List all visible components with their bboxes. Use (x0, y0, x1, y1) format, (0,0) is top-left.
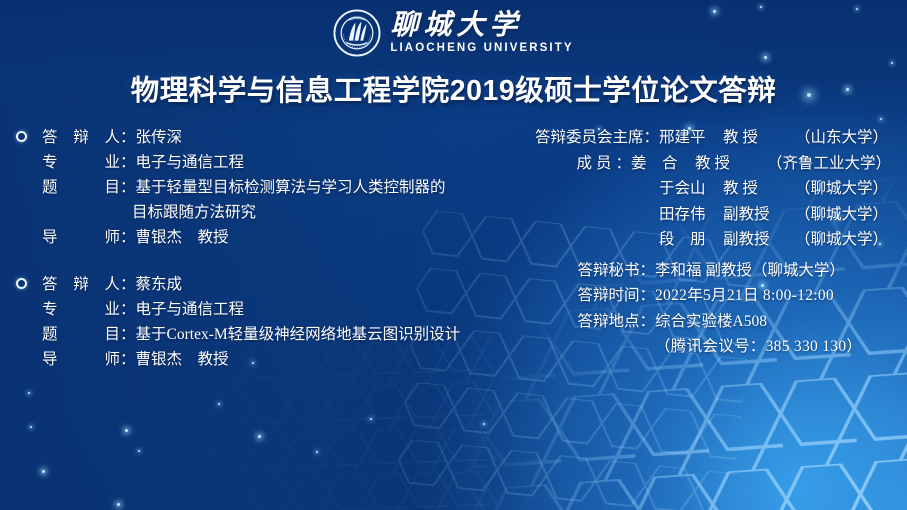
member-rank: 副教授 (723, 227, 795, 253)
member-name: 于会山 (659, 176, 723, 202)
member-org: （山东大学） (795, 125, 888, 151)
secretary-label: 答辩秘书： (577, 258, 655, 284)
advisor-label: 导师 (42, 225, 120, 250)
member-org: （齐鲁工业大学） (767, 151, 891, 177)
member-org: （聊城大学） (795, 227, 888, 253)
glow-dot (258, 435, 261, 438)
topic-row-continued: 目标跟随方法研究 (12, 200, 482, 225)
major-row: 专业 ： 电子与通信工程 (12, 150, 482, 175)
time-label: 答辩时间： (577, 283, 655, 309)
glow-dot (316, 451, 318, 453)
advisor-value: 曹银杰 教授 (136, 225, 482, 250)
major-label: 专业 (42, 150, 120, 175)
defense-entry: 答辩人 ： 张传深 专业 ： 电子与通信工程 题目 ： 基于轻量型目标检测算法与… (12, 125, 482, 250)
committee-member-row: 于会山教 授（聊城大学） (491, 176, 891, 202)
committee-member-row: 田存伟副教授（聊城大学） (491, 202, 891, 228)
member-rank: 教 授 (723, 125, 795, 151)
university-branding: 聊城大学 LIAOCHENG UNIVERSITY (0, 4, 907, 62)
secretary-row: 答辩秘书： 李和福 副教授（聊城大学） (491, 258, 891, 284)
advisor-row: 导师 ： 曹银杰 教授 (12, 347, 482, 372)
glow-dot (125, 429, 128, 432)
glow-dot (30, 426, 32, 428)
time-value: 2022年5月21日 8:00-12:00 (655, 283, 891, 309)
place-label: 答辩地点： (577, 309, 655, 335)
presentation-slide: 聊城大学 LIAOCHENG UNIVERSITY 物理科学与信息工程学院201… (0, 0, 907, 510)
major-value: 电子与通信工程 (136, 297, 482, 322)
university-seal-icon (333, 9, 381, 57)
topic-row: 题目 ： 基于Cortex-M轻量级神经网络地基云图识别设计 (12, 322, 482, 347)
meeting-number-value: （腾讯会议号：385 330 130） (655, 334, 891, 360)
committee-panel: 答辩委员会主席： 邢建平教 授（山东大学） 成员： 姜 合教 授（齐鲁工业大学）… (491, 125, 891, 360)
glow-dot (370, 418, 372, 420)
place-value: 综合实验楼A508 (655, 309, 891, 335)
place-row: 答辩地点： 综合实验楼A508 (491, 309, 891, 335)
glow-dot (138, 450, 140, 452)
committee-member-row: 段 朋副教授（聊城大学） (491, 227, 891, 253)
time-row: 答辩时间： 2022年5月21日 8:00-12:00 (491, 283, 891, 309)
advisor-row: 导师 ： 曹银杰 教授 (12, 225, 482, 250)
member-rank: 教 授 (723, 176, 795, 202)
university-name-cn: 聊城大学 (390, 12, 522, 40)
advisor-label: 导师 (42, 347, 120, 372)
defender-label: 答辩人 (42, 272, 120, 297)
defense-list: 答辩人 ： 张传深 专业 ： 电子与通信工程 题目 ： 基于轻量型目标检测算法与… (12, 125, 482, 394)
ring-bullet-icon (16, 131, 27, 142)
committee-chair-row: 答辩委员会主席： 邢建平教 授（山东大学） (491, 125, 891, 151)
secretary-value: 李和福 副教授（聊城大学） (655, 258, 891, 284)
topic-label: 题目 (42, 175, 120, 200)
colon: ： (120, 175, 136, 200)
topic-value-line1: 基于轻量型目标检测算法与学习人类控制器的 (136, 175, 482, 200)
defense-details: 答辩秘书： 李和福 副教授（聊城大学） 答辩时间： 2022年5月21日 8:0… (491, 258, 891, 360)
ring-bullet-icon (16, 278, 27, 289)
member-org: （聊城大学） (795, 202, 888, 228)
topic-value-line1: 基于Cortex-M轻量级神经网络地基云图识别设计 (136, 322, 482, 347)
glow-dot (891, 62, 893, 64)
major-value: 电子与通信工程 (136, 150, 482, 175)
colon: ： (120, 125, 136, 150)
glow-dot (483, 423, 485, 425)
topic-row: 题目 ： 基于轻量型目标检测算法与学习人类控制器的 (12, 175, 482, 200)
member-name: 姜 合 (631, 151, 695, 177)
committee-member-row: 成员： 姜 合教 授（齐鲁工业大学） (491, 151, 891, 177)
topic-value-line2: 目标跟随方法研究 (132, 200, 256, 225)
committee-member-value: 姜 合教 授（齐鲁工业大学） (631, 151, 891, 177)
topic-label: 题目 (42, 322, 120, 347)
content-columns: 答辩人 ： 张传深 专业 ： 电子与通信工程 题目 ： 基于轻量型目标检测算法与… (0, 118, 907, 378)
committee-member-value: 段 朋副教授（聊城大学） (659, 227, 891, 253)
committee-member-value: 于会山教 授（聊城大学） (659, 176, 891, 202)
colon: ： (120, 225, 136, 250)
colon: ： (120, 347, 136, 372)
defense-entry: 答辩人 ： 蔡东成 专业 ： 电子与通信工程 题目 ： 基于Cortex-M轻量… (12, 272, 482, 372)
committee-chair-label: 答辩委员会主席： (535, 125, 659, 151)
major-label: 专业 (42, 297, 120, 322)
glow-dot (117, 503, 120, 506)
member-name: 邢建平 (659, 125, 723, 151)
defender-name: 张传深 (136, 125, 482, 150)
committee-members-label: 成员： (576, 151, 631, 177)
member-name: 段 朋 (659, 227, 723, 253)
colon: ： (120, 272, 136, 297)
member-name: 田存伟 (659, 202, 723, 228)
defender-row: 答辩人 ： 蔡东成 (12, 272, 482, 297)
colon: ： (120, 150, 136, 175)
glow-dot (42, 470, 45, 473)
advisor-value: 曹银杰 教授 (136, 347, 482, 372)
member-rank: 教 授 (695, 151, 767, 177)
page-title: 物理科学与信息工程学院2019级硕士学位论文答辩 (0, 68, 907, 109)
university-name-en: LIAOCHENG UNIVERSITY (390, 43, 573, 55)
major-row: 专业 ： 电子与通信工程 (12, 297, 482, 322)
committee-chair-value: 邢建平教 授（山东大学） (659, 125, 891, 151)
colon: ： (120, 297, 136, 322)
member-org: （聊城大学） (795, 176, 888, 202)
defender-row: 答辩人 ： 张传深 (12, 125, 482, 150)
member-rank: 副教授 (723, 202, 795, 228)
glow-dot (218, 403, 220, 405)
meeting-row: （腾讯会议号：385 330 130） (491, 334, 891, 360)
colon: ： (120, 322, 136, 347)
defender-label: 答辩人 (42, 125, 120, 150)
defender-name: 蔡东成 (136, 272, 482, 297)
committee-member-value: 田存伟副教授（聊城大学） (659, 202, 891, 228)
